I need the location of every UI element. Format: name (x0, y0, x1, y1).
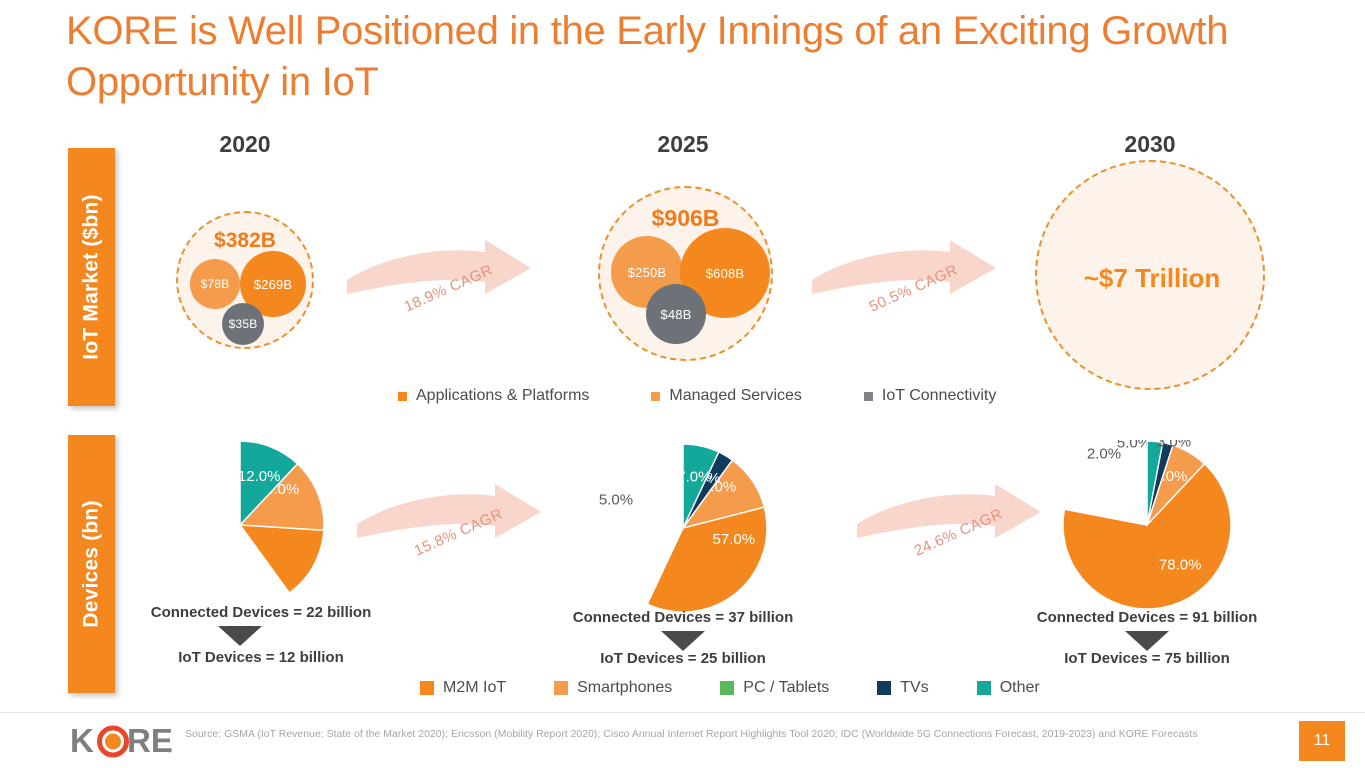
legend-item-pc-tablets: PC / Tablets (720, 679, 829, 697)
page-number-badge: 11 (1299, 721, 1345, 761)
row-label-devices-text: Devices (bn) (80, 500, 104, 627)
svg-text:K: K (70, 722, 94, 759)
year-heading-2030: 2030 (1085, 131, 1215, 158)
bubble-group-2030: ~$7 Trillion (1035, 160, 1265, 390)
iot-devices-caption-2020: IoT Devices = 12 billion (150, 649, 372, 666)
cagr-arrow-devices-2020-2025: 15.8% CAGR (355, 482, 545, 572)
pie-slice-label: 5.0% (599, 492, 633, 509)
cagr-arrow-market-2025-2030: 50.5% CAGR (810, 238, 1000, 328)
pie-slice-label: 12.0% (238, 468, 281, 485)
source-citation: Source: GSMA (IoT Revenue: State of the … (185, 727, 1215, 741)
svg-text:.: . (168, 745, 171, 756)
legend-label-applications-platforms: Applications & Platforms (416, 387, 589, 405)
down-arrow-icon-2030 (1125, 631, 1169, 651)
legend-swatch-icon (864, 392, 873, 401)
legend-item-managed-services: Managed Services (651, 387, 802, 405)
pie-chart-devices-2020: 40.0%26.0%10.0%12.0%12.0% (155, 440, 325, 610)
legend-label-iot-connectivity: IoT Connectivity (882, 387, 996, 405)
legend-item-applications-platforms: Applications & Platforms (398, 387, 589, 405)
pie-slice-label: 3.0% (1157, 440, 1191, 451)
pie-slice-label: 78.0% (1159, 557, 1202, 574)
legend-swatch-icon (977, 681, 991, 695)
bubble-total-2030: ~$7 Trillion (1037, 263, 1267, 294)
kore-logo-icon: K RE . (70, 722, 174, 762)
legend-swatch-icon (720, 681, 734, 695)
legend-label-other: Other (1000, 679, 1040, 697)
legend-label-pc-tablets: PC / Tablets (743, 679, 829, 697)
year-heading-2025: 2025 (618, 131, 748, 158)
pie-chart-devices-2030: 78.0%12.0%2.0%5.0%3.0% (1062, 440, 1232, 610)
pie-chart-devices-2025: 57.0%21.0%5.0%10.0%7.0% (598, 443, 768, 613)
bubble-group-2020: $382B $78B $269B $35B (176, 211, 314, 349)
slide: KORE is Well Positioned in the Early Inn… (0, 0, 1365, 768)
row-label-devices: Devices (bn) (68, 435, 115, 693)
legend-label-m2m-iot: M2M IoT (443, 679, 506, 697)
bubble-managed-services-2020: $78B (190, 259, 240, 309)
legend-item-smartphones: Smartphones (554, 679, 672, 697)
legend-item-other: Other (977, 679, 1040, 697)
connected-devices-caption-2025: Connected Devices = 37 billion (572, 609, 794, 626)
cagr-arrow-devices-2025-2030: 24.6% CAGR (855, 482, 1045, 572)
svg-text:RE: RE (127, 722, 173, 759)
pie-slice-label: 57.0% (713, 531, 756, 548)
bubble-total-2025: $906B (600, 205, 771, 232)
pie-slice-label: 5.0% (1117, 440, 1151, 452)
connected-devices-caption-2030: Connected Devices = 91 billion (1036, 609, 1258, 626)
pie-svg-2025: 57.0%21.0%5.0%10.0%7.0% (598, 443, 768, 613)
iot-devices-caption-2030: IoT Devices = 75 billion (1036, 650, 1258, 667)
bubble-group-2025: $906B $250B $608B $48B (598, 186, 773, 361)
legend-swatch-icon (877, 681, 891, 695)
bubble-iot-connectivity-2020: $35B (222, 303, 264, 345)
legend-label-managed-services: Managed Services (669, 387, 802, 405)
footer-divider (0, 712, 1365, 713)
year-heading-2020: 2020 (180, 131, 310, 158)
bubble-total-2020: $382B (178, 229, 312, 253)
row-label-iot-market-text: IoT Market ($bn) (80, 194, 104, 359)
legend-label-smartphones: Smartphones (577, 679, 672, 697)
down-arrow-icon-2020 (218, 626, 262, 646)
connected-devices-caption-2020: Connected Devices = 22 billion (150, 604, 372, 621)
legend-item-iot-connectivity: IoT Connectivity (864, 387, 996, 405)
row-label-iot-market: IoT Market ($bn) (68, 148, 115, 406)
page-title: KORE is Well Positioned in the Early Inn… (66, 6, 1266, 108)
legend-item-tvs: TVs (877, 679, 928, 697)
legend-swatch-icon (554, 681, 568, 695)
pie-slice-label: 7.0% (677, 469, 711, 486)
legend-swatch-icon (651, 392, 660, 401)
legend-item-m2m-iot: M2M IoT (420, 679, 506, 697)
legend-label-tvs: TVs (900, 679, 928, 697)
cagr-arrow-market-2020-2025: 18.9% CAGR (345, 238, 535, 328)
iot-devices-caption-2025: IoT Devices = 25 billion (572, 650, 794, 667)
down-arrow-icon-2025 (661, 631, 705, 651)
legend-devices: M2M IoT Smartphones PC / Tablets TVs Oth… (420, 679, 1088, 697)
legend-swatch-icon (398, 392, 407, 401)
legend-iot-market: Applications & Platforms Managed Service… (398, 387, 1058, 405)
bubble-iot-connectivity-2025: $48B (646, 284, 706, 344)
legend-swatch-icon (420, 681, 434, 695)
pie-svg-2030: 78.0%12.0%2.0%5.0%3.0% (1062, 440, 1232, 610)
kore-logo: K RE . (70, 722, 174, 767)
pie-svg-2020: 40.0%26.0%10.0%12.0%12.0% (155, 440, 325, 610)
